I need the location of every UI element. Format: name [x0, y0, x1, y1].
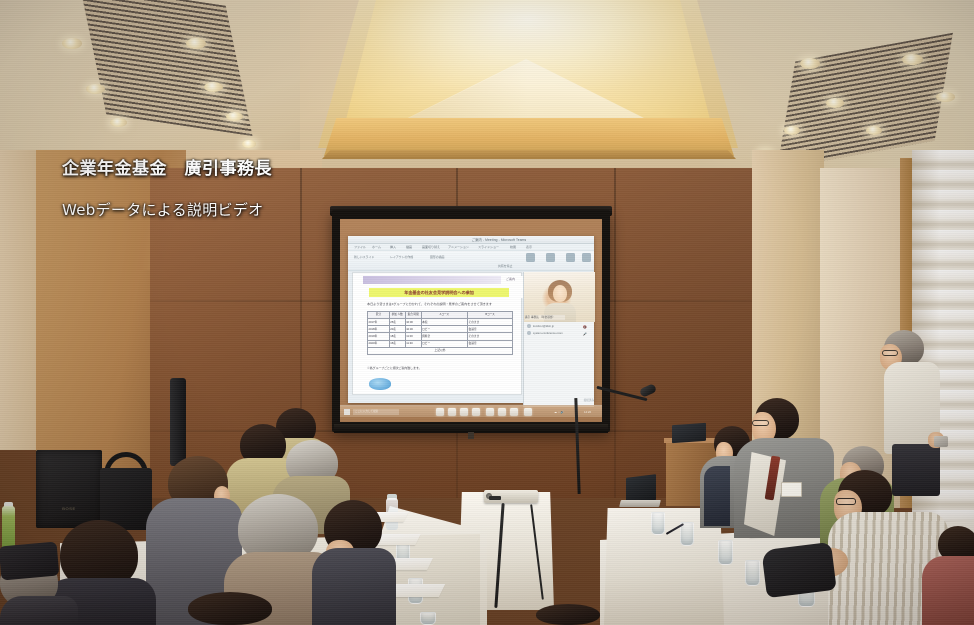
handheld-device [934, 436, 948, 447]
speaker-name-label: 廣引 事務長 （年金基金） [525, 315, 565, 320]
slide-table: 区分 参加 人数 集合 時間 Aコース Bコース 2017年 25名 10:00… [367, 311, 513, 355]
table-header-cell: 参加 人数 [389, 312, 405, 319]
table-header-cell: 集合 時間 [405, 312, 421, 319]
downlight-icon [784, 126, 800, 135]
avatar-dot [527, 324, 531, 328]
clock[interactable]: 14:26 [584, 409, 591, 415]
presentation-app-window: ご案内 - Meeting - Microsoft Teams ファイル ホーム… [348, 236, 594, 403]
share-status-label: 共有を停止 [498, 263, 512, 269]
downlight-icon [936, 92, 955, 102]
table-cell: 2019年 [368, 333, 390, 340]
participants-icon[interactable]: 参加者 [524, 253, 537, 269]
menu-item[interactable]: ホーム [372, 245, 381, 250]
caption-subtitle: Webデータによる説明ビデオ [62, 200, 482, 220]
video-conference-pane: 廣引 事務長 （年金基金） kumiko.t@kikin.jp 🔇 system… [523, 272, 594, 407]
app-title: ご案内 - Meeting - Microsoft Teams [444, 237, 554, 243]
pa-speaker [36, 450, 102, 528]
table-cell: そのまま [468, 333, 513, 340]
teams-icon[interactable] [498, 408, 506, 416]
slide-footnote: ※各グループごとに順次ご案内致します。 [367, 365, 513, 371]
water-glass [745, 560, 760, 586]
menu-item[interactable]: 描画 [406, 245, 412, 250]
table-header-cell: Bコース [468, 312, 513, 319]
file-explorer-icon[interactable] [436, 408, 444, 416]
list-item[interactable]: kumiko.t@kikin.jp 🔇 [524, 323, 595, 330]
table-cell: 本館 [421, 319, 467, 326]
menu-item[interactable]: ファイル [354, 245, 366, 250]
table-cell: 20名 [389, 326, 405, 333]
downlight-icon [226, 112, 243, 121]
table-header-row: 区分 参加 人数 集合 時間 Aコース Bコース [368, 312, 513, 319]
avatar-dot [527, 331, 531, 335]
table-header-cell: Aコース [421, 312, 467, 319]
caption-overlay: 企業年金基金 廣引事務長 Webデータによる説明ビデオ [62, 158, 482, 220]
store-icon[interactable] [472, 408, 480, 416]
water-glass [420, 612, 436, 625]
downlight-icon [826, 98, 844, 108]
speaker-stand [170, 378, 186, 466]
table-cell: 11:30 [405, 340, 421, 347]
table-cell: 15名 [389, 340, 405, 347]
search-input[interactable]: ここに入力して検索 [353, 409, 399, 415]
person-head [188, 592, 272, 625]
water-glass [718, 540, 733, 565]
speaker-brand-label: BOSE [52, 506, 86, 512]
slide-title: 年金基金の社友会見学説明会への参加 [369, 288, 509, 297]
name-badge [781, 482, 802, 497]
slide-canvas: ご案内 年金基金の社友会見学説明会への参加 本日より皆さまは4グループに分かれて… [352, 272, 522, 395]
table-header-cell: 区分 [368, 312, 390, 319]
person-torso [922, 556, 974, 625]
caption-title: 企業年金基金 廣引事務長 [62, 158, 482, 180]
table-cell: 2017年 [368, 319, 390, 326]
person-suit-lapel [704, 466, 730, 526]
glasses-icon [836, 498, 856, 505]
mic-icon[interactable]: 🎤 [583, 331, 587, 338]
folded-jacket [0, 542, 59, 581]
downlight-icon [186, 38, 206, 49]
table-cell: 会議室 [468, 340, 513, 347]
ribbon-button[interactable]: 新しいスライド [354, 254, 374, 260]
downlight-icon [204, 82, 223, 92]
water-glass [651, 512, 665, 535]
company-logo-icon [369, 378, 391, 390]
person-torso [312, 548, 396, 625]
windows-taskbar: ここに入力して検索 ☁ ☼ 🔊 14:26 [340, 405, 602, 417]
app-ribbon [348, 251, 594, 271]
chat-icon[interactable]: チャット [544, 253, 557, 269]
start-button-icon[interactable] [344, 409, 350, 415]
avatar-face [553, 285, 567, 302]
downlight-icon [62, 38, 82, 49]
glasses-icon [752, 420, 769, 426]
mail-icon[interactable] [460, 408, 468, 416]
share-icon[interactable]: 共有 [564, 253, 577, 269]
table-cell: 10:30 [405, 326, 421, 333]
table-cell: 18名 [389, 333, 405, 340]
downlight-icon [110, 118, 127, 127]
table-cell: 2018年 [368, 326, 390, 333]
table-row: 2018年 20名 10:30 ロビー 会議室 [368, 326, 513, 333]
downlight-icon [902, 54, 923, 65]
menu-item[interactable]: 表示 [526, 245, 532, 250]
green-tea-bottle [2, 506, 15, 548]
table-cell: ロビー [421, 326, 467, 333]
projection-screen-surface: ご案内 - Meeting - Microsoft Teams ファイル ホーム… [340, 219, 602, 422]
menu-item[interactable]: 挿入 [390, 245, 396, 250]
word-icon[interactable] [524, 408, 532, 416]
excel-icon[interactable] [510, 408, 518, 416]
menu-item[interactable]: アニメーション [448, 245, 469, 250]
table-row: 2019年 18名 11:00 資料室 そのまま [368, 333, 513, 340]
table-cell: ロビー [421, 340, 467, 347]
conference-room-photo: ご案内 - Meeting - Microsoft Teams ファイル ホーム… [0, 0, 974, 625]
downlight-icon [242, 140, 256, 148]
wood-wall-seam [614, 168, 616, 498]
downlight-icon [866, 126, 882, 135]
table-cell: 会議室 [468, 326, 513, 333]
powerpoint-icon[interactable] [486, 408, 494, 416]
standing-person-trousers [892, 444, 940, 496]
table-row: 2020年 15名 11:30 ロビー 会議室 [368, 340, 513, 347]
participant-list: kumiko.t@kikin.jp 🔇 system-conference-ro… [524, 323, 595, 341]
ribbon-button[interactable]: 図形の描画 [430, 254, 444, 260]
remote-control[interactable] [489, 496, 501, 500]
table-cell: 2020年 [368, 340, 390, 347]
person-torso [0, 596, 78, 625]
table-cell: 25名 [389, 319, 405, 326]
table-cell: 11:00 [405, 333, 421, 340]
table-cell: 10:00 [405, 319, 421, 326]
jacket-on-table [761, 542, 836, 598]
list-item[interactable]: system-conference-room 🎤 [524, 330, 595, 337]
app-menubar [348, 244, 594, 251]
more-icon[interactable]: その他 [580, 253, 593, 269]
downlight-icon [800, 58, 820, 69]
table-row: 2017年 25名 10:00 本館 そのまま [368, 319, 513, 326]
ribbon-button[interactable]: レイアウトの作成 [390, 254, 413, 260]
downlight-icon [86, 84, 105, 94]
person-head [536, 604, 600, 625]
slide-subtitle: 本日より皆さまは4グループに分かれて、それぞれの説明・見学のご案内をさせて頂きま… [367, 301, 513, 307]
tray-icons[interactable]: ☁ ☼ 🔊 [554, 409, 564, 415]
slide-header-label: ご案内 [471, 276, 515, 283]
menu-item[interactable]: 画面切り替え [422, 245, 440, 250]
laptop-keyboard[interactable] [619, 500, 661, 507]
screen-pull-handle[interactable] [468, 432, 474, 439]
table-note-row: 上記以外 [368, 347, 513, 354]
edge-icon[interactable] [448, 408, 456, 416]
menu-item[interactable]: スライドショー [478, 245, 499, 250]
table-cell: そのまま [468, 319, 513, 326]
table-cell: 資料室 [421, 333, 467, 340]
menu-item[interactable]: 校閲 [510, 245, 516, 250]
glasses-icon [882, 350, 898, 356]
podium-laptop[interactable] [672, 423, 706, 443]
table-note-cell: 上記以外 [368, 347, 513, 354]
